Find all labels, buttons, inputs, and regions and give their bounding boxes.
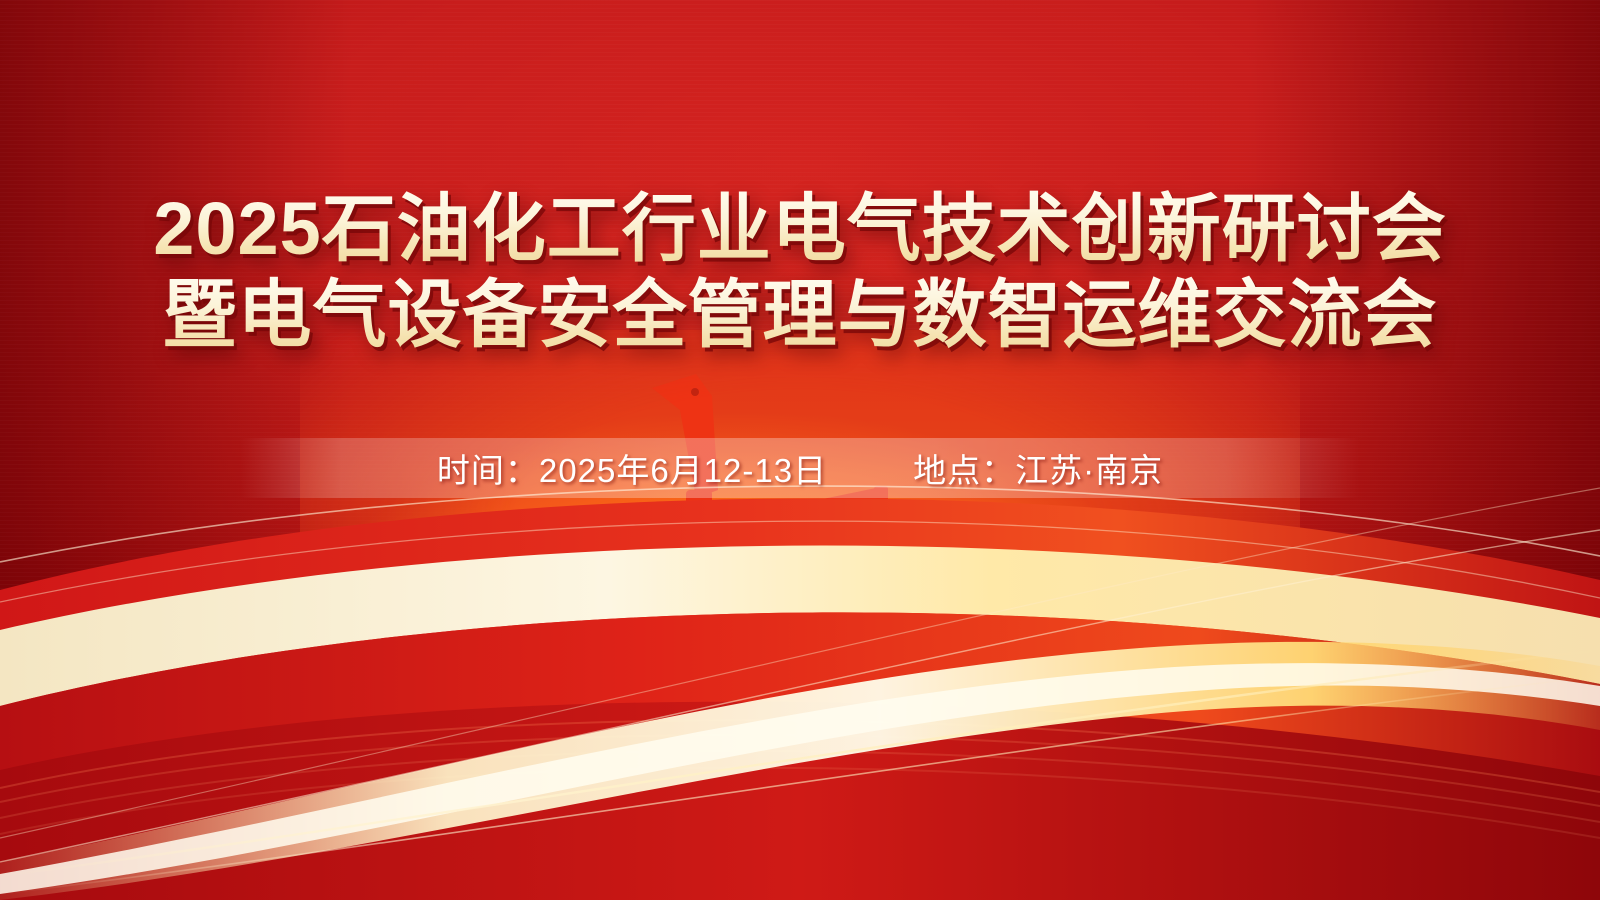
title-line-2: 暨电气设备安全管理与数智运维交流会 (0, 272, 1600, 358)
event-info-bar: 时间：2025年6月12-13日 地点：江苏·南京 (240, 438, 1360, 498)
event-date: 时间：2025年6月12-13日 (437, 444, 827, 492)
event-location: 地点：江苏·南京 (913, 444, 1163, 492)
conference-banner: 2025石油化工行业电气技术创新研讨会 暨电气设备安全管理与数智运维交流会 时间… (0, 0, 1600, 900)
ribbon-waves-decoration (0, 470, 1600, 900)
banner-title: 2025石油化工行业电气技术创新研讨会 暨电气设备安全管理与数智运维交流会 (0, 186, 1600, 358)
title-line-1: 2025石油化工行业电气技术创新研讨会 (0, 186, 1600, 272)
